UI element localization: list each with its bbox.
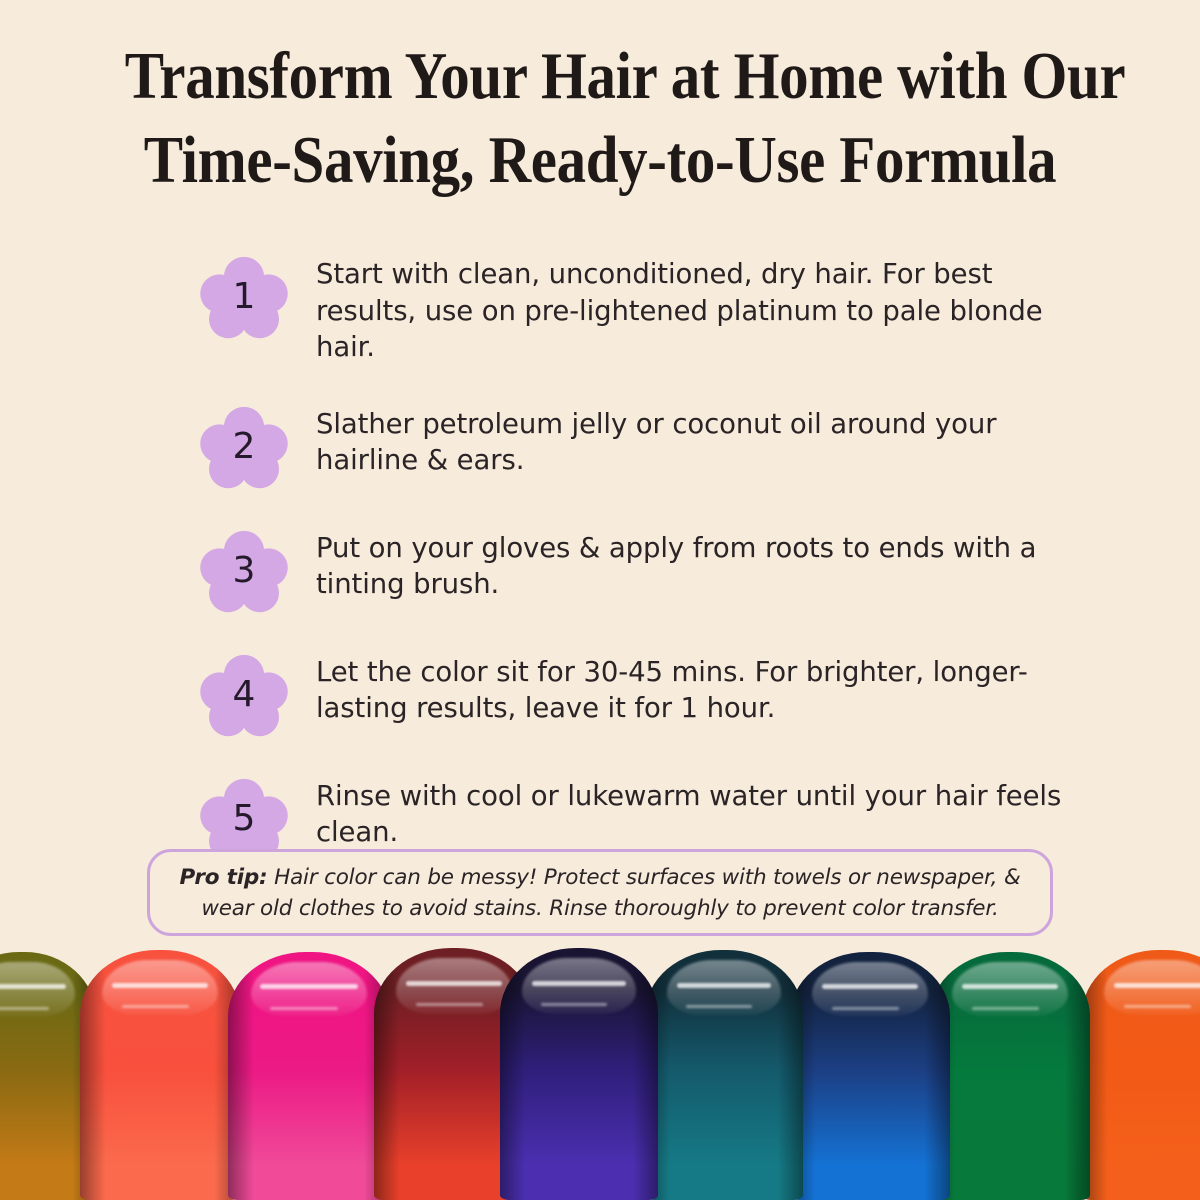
- step-2-badge: 2: [200, 406, 288, 490]
- step-4-text: Let the color sit for 30-45 mins. For br…: [288, 648, 1080, 727]
- orange-bottle: [1082, 950, 1200, 1200]
- pro-tip-body: Hair color can be messy! Protect surface…: [201, 865, 1020, 921]
- product-bottles-strip: [0, 948, 1200, 1200]
- indigo-violet-bottle: [500, 948, 658, 1200]
- step-item-4: 4 Let the color sit for 30-45 mins. For …: [200, 648, 1080, 738]
- step-item-2: 2 Slather petroleum jelly or coconut oil…: [200, 400, 1080, 490]
- bottle-specular-line: [962, 984, 1058, 989]
- bottle-specular-line-2: [416, 1003, 483, 1006]
- step-5-text: Rinse with cool or lukewarm water until …: [288, 772, 1080, 851]
- title-line-2: Time-Saving, Ready-to-Use Formula: [125, 118, 1075, 202]
- bottle-specular-line: [1114, 983, 1200, 988]
- step-item-1: 1 Start with clean, unconditioned, dry h…: [200, 250, 1080, 366]
- bottle-specular-line-2: [270, 1007, 338, 1010]
- step-item-5: 5 Rinse with cool or lukewarm water unti…: [200, 772, 1080, 862]
- bottle-specular-line: [677, 983, 772, 988]
- bottle-specular-line: [0, 984, 66, 989]
- step-1-number: 1: [200, 256, 288, 340]
- bottle-specular-line-2: [541, 1003, 607, 1006]
- emerald-green-bottle: [930, 952, 1090, 1200]
- bottle-specular-line-2: [832, 1007, 899, 1010]
- steps-list: 1 Start with clean, unconditioned, dry h…: [200, 250, 1080, 862]
- bottle-specular-line: [822, 984, 918, 989]
- step-item-3: 3 Put on your gloves & apply from roots …: [200, 524, 1080, 614]
- bottle-specular-line: [406, 981, 502, 986]
- bottle-specular-line-2: [1124, 1005, 1191, 1008]
- step-1-badge: 1: [200, 256, 288, 340]
- step-1-text: Start with clean, unconditioned, dry hai…: [288, 250, 1080, 366]
- bottle-specular-line-2: [972, 1007, 1039, 1010]
- bottle-specular-line-2: [122, 1005, 189, 1008]
- pro-tip-text: Pro tip: Hair color can be messy! Protec…: [176, 862, 1024, 924]
- royal-blue-bottle: [790, 952, 950, 1200]
- step-3-number: 3: [200, 530, 288, 614]
- step-3-text: Put on your gloves & apply from roots to…: [288, 524, 1080, 603]
- step-4-badge: 4: [200, 654, 288, 738]
- bottle-specular-line-2: [0, 1007, 49, 1010]
- pro-tip-label: Pro tip:: [179, 865, 267, 890]
- step-4-number: 4: [200, 654, 288, 738]
- infographic-page: Transform Your Hair at Home with Our Tim…: [0, 0, 1200, 1200]
- coral-red-bottle: [80, 950, 240, 1200]
- step-3-badge: 3: [200, 530, 288, 614]
- bottle-specular-line-2: [686, 1005, 752, 1008]
- step-2-number: 2: [200, 406, 288, 490]
- pro-tip-callout: Pro tip: Hair color can be messy! Protec…: [147, 849, 1053, 936]
- teal-bottle: [645, 950, 803, 1200]
- page-title: Transform Your Hair at Home with Our Tim…: [60, 34, 1140, 202]
- bottle-specular-line: [112, 983, 208, 988]
- title-line-1: Transform Your Hair at Home with Our: [125, 34, 1075, 118]
- bottle-specular-line: [532, 981, 627, 986]
- step-2-text: Slather petroleum jelly or coconut oil a…: [288, 400, 1080, 479]
- hot-pink-bottle: [228, 952, 390, 1200]
- bottle-specular-line: [260, 984, 357, 989]
